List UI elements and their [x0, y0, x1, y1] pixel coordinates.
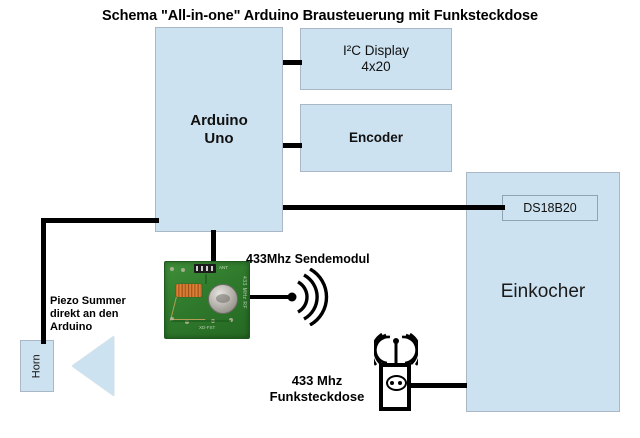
node-ds18b20-sensor: DS18B20: [502, 195, 598, 221]
wire-arduino-to-display: [283, 60, 302, 65]
diagram-canvas: Schema "All-in-one" Arduino Brausteuerun…: [0, 0, 640, 438]
node-i2c-display: I²C Display 4x20: [300, 28, 452, 90]
label-433mhz-funksteckdose: 433 Mhz Funksteckdose: [255, 373, 379, 404]
funksteckdose-label-line1: 433 Mhz: [292, 373, 343, 388]
wire-socket-to-einkocher: [409, 383, 467, 388]
piezo-label-line2: direkt an den: [50, 308, 118, 320]
node-encoder-label: Encoder: [349, 130, 403, 146]
pcb-saw-resonator-icon: [208, 284, 238, 314]
node-ds18b20-label: DS18B20: [523, 201, 577, 215]
node-i2c-display-label: I²C Display 4x20: [343, 43, 409, 74]
wire-arduino-to-ds18b20: [283, 205, 505, 210]
pcb-pin-header-icon: [194, 264, 216, 273]
pcb-trace: [205, 274, 207, 284]
antenna-icon: [374, 333, 418, 366]
wire-arduino-to-piezo-vertical: [41, 218, 46, 344]
pcb-silkscreen-bottom: XD-FST: [199, 325, 215, 330]
pcb-silkscreen-top: ANT: [219, 265, 228, 270]
label-433mhz-sendemodul: 433Mhz Sendemodul: [246, 252, 370, 267]
radio-waves-icon: [282, 268, 338, 326]
pcb-trace: [171, 320, 231, 322]
rf-transmitter-module-433mhz: 433 MHz RF ANT XD-FST: [164, 261, 250, 339]
pcb-pad: [181, 268, 185, 272]
power-socket-contact-dot: [398, 381, 402, 385]
wire-arduino-to-encoder: [283, 143, 302, 148]
pcb-silkscreen-right: 433 MHz RF: [241, 276, 247, 309]
arduino-label-line1: Arduino: [190, 112, 248, 129]
pcb-coil-traces: [170, 297, 211, 320]
node-horn-label: Horn: [31, 354, 44, 378]
power-socket-contact-dot: [390, 381, 394, 385]
node-encoder: Encoder: [300, 104, 452, 172]
funksteckdose-label-line2: Funksteckdose: [270, 389, 365, 404]
speaker-cone-icon: [72, 336, 114, 396]
arduino-label-line2: Uno: [204, 130, 233, 147]
pcb-copper-coil-icon: [176, 284, 202, 297]
node-einkocher-label: Einkocher: [501, 281, 586, 303]
node-arduino-uno-label: Arduino Uno: [190, 112, 248, 147]
display-label-line2: 4x20: [361, 59, 390, 74]
diagram-title: Schema "All-in-one" Arduino Brausteuerun…: [0, 8, 640, 24]
display-label-line1: I²C Display: [343, 43, 409, 58]
pcb-pad: [170, 267, 174, 271]
label-piezo-summer: Piezo Summer direkt an den Arduino: [50, 295, 126, 335]
node-horn: Horn: [20, 340, 54, 392]
piezo-label-line3: Arduino: [50, 321, 92, 333]
node-arduino-uno: Arduino Uno: [155, 27, 283, 232]
piezo-label-line1: Piezo Summer: [50, 295, 126, 307]
wire-arduino-to-piezo-horizontal: [41, 218, 159, 223]
